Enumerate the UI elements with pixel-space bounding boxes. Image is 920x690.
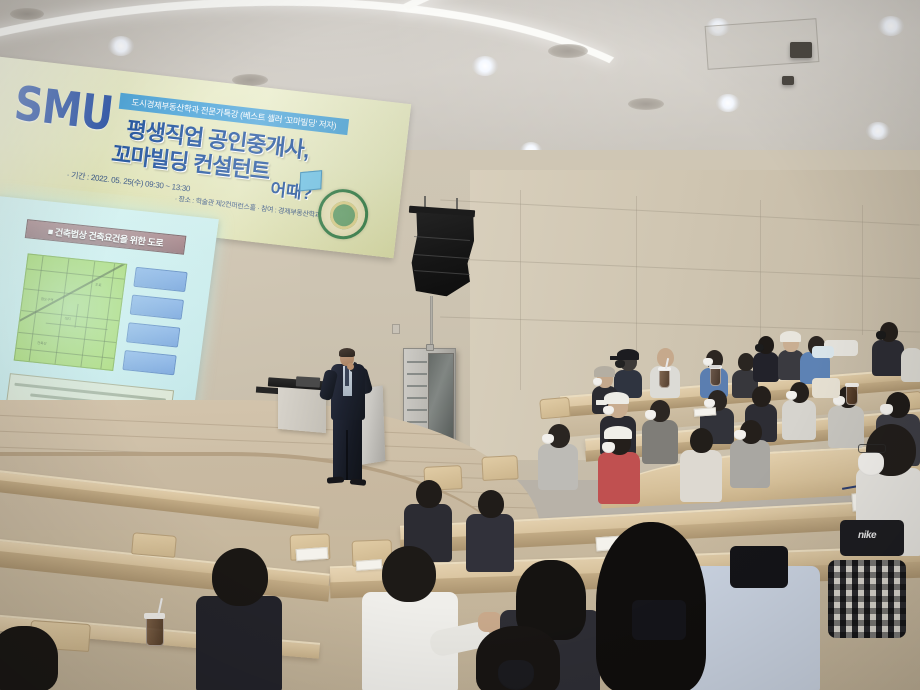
white-cap [604,426,632,439]
slide-cadastral-map: 접도구역 대지 도로 건축선 [14,253,128,371]
student-head [738,353,754,371]
grey-bucket-hat [594,366,615,377]
ceiling-spotlight [716,94,740,112]
iced-coffee-cup [710,368,721,386]
handout-paper [296,547,329,561]
student-torso [466,514,514,572]
ceiling-air-vent [548,44,588,58]
student-head [0,626,58,690]
lectern [278,383,326,433]
face-mask [602,442,615,453]
student-torso [872,340,904,376]
face-mask [880,404,893,415]
iced-coffee-cup [659,370,670,388]
ceiling-projector [790,42,812,58]
cup-lid [845,383,859,387]
slide-bullet-box [122,350,176,375]
handout-paper [356,559,383,571]
chair [539,397,571,420]
backpack [730,546,788,588]
ceiling-spotlight [878,16,904,36]
cap-brim-icon [596,400,608,405]
university-seal-emblem [315,186,370,241]
student-torso [642,420,678,464]
ceiling-air-vent [628,98,664,110]
rack-handle[interactable] [426,344,434,351]
face-mask [603,406,614,415]
banner-folder-icon [299,170,322,191]
backpack [632,600,686,640]
white-bag [812,346,834,358]
face-mask [786,391,797,400]
wall-outlet [392,324,400,334]
face-mask [498,660,534,690]
chair [481,455,518,481]
presenter-hand [347,363,354,370]
student-torso [680,450,722,502]
face-mask [858,452,884,476]
student-torso [901,348,920,382]
face-mask [734,430,746,440]
paper-bag [812,378,840,398]
student-head [416,480,442,508]
white-bucket-hat [780,331,801,342]
lecture-hall-photo: SMU 도시경제부동산학과 전문가특강 (베스트 셀러 '꼬마빌딩' 저자) 평… [0,0,920,690]
student-head [752,386,771,407]
ceiling-spotlight [866,122,890,140]
face-mask [615,360,625,368]
nike-bag-label: nike [858,530,876,541]
student-torso [753,352,779,382]
student-checkered-shirt [828,560,906,638]
slide-bullet-box [126,322,180,347]
presenter-leg-split [346,430,348,480]
slide-title: ■ 건축법상 건축요건을 위한 도로 [25,219,187,255]
smu-logo: SMU [12,77,116,142]
face-mask [645,410,656,420]
cup-lid [144,613,165,619]
presenter-hair [339,348,355,357]
ceiling-air-vent [10,8,44,20]
iced-coffee-cup [846,386,858,405]
chair [131,532,177,558]
eyeglasses-icon [858,444,886,453]
handout-paper [694,407,717,417]
ceiling-spotlight [472,56,498,76]
student-torso [730,440,770,488]
student-torso [538,444,578,490]
student-head [478,490,504,518]
student-head [690,428,713,453]
student-torso [196,596,282,690]
slide-bullet-box [130,295,184,320]
ceiling-mount [782,76,794,85]
face-mask [755,344,764,352]
student-torso [828,406,864,448]
iced-coffee-cup [146,618,164,646]
student-torso [782,400,816,440]
face-mask [593,378,602,386]
student-head [382,546,436,602]
ceiling-spotlight [108,36,134,56]
slide-bullet-box [133,267,187,292]
cup-lid [709,365,722,369]
lectern-laptop [296,376,320,387]
face-mask [542,434,554,444]
face-mask [876,331,886,340]
student-head [212,548,268,606]
student-torso [598,452,640,504]
